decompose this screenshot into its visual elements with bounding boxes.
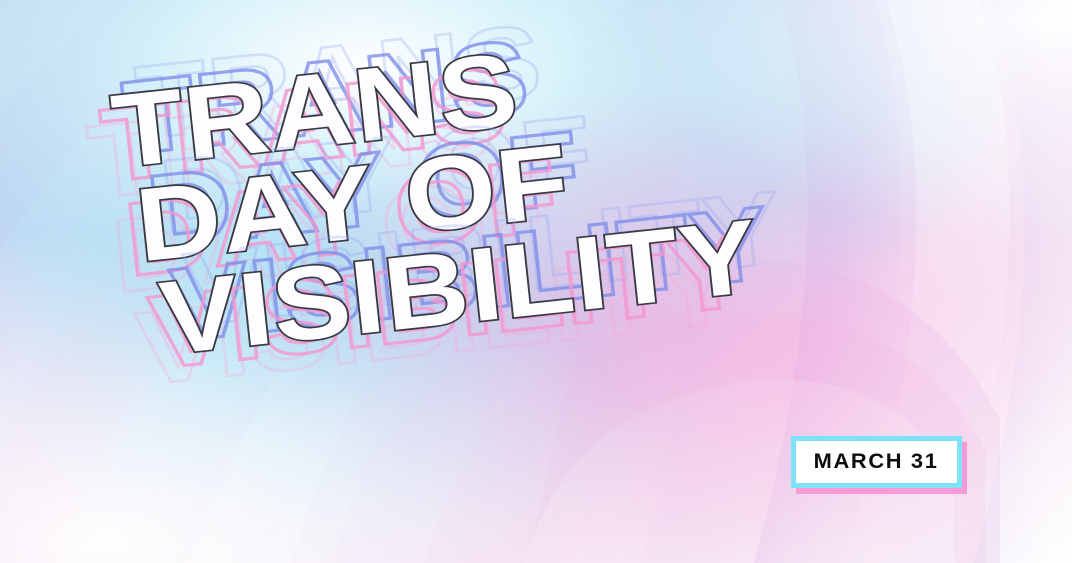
date-badge-label: MARCH 31 <box>814 450 939 474</box>
date-badge: MARCH 31 <box>791 436 962 488</box>
poster-canvas: TRANS TRANS TRANS TRANS TRANS DAY OF DAY… <box>0 0 1072 563</box>
